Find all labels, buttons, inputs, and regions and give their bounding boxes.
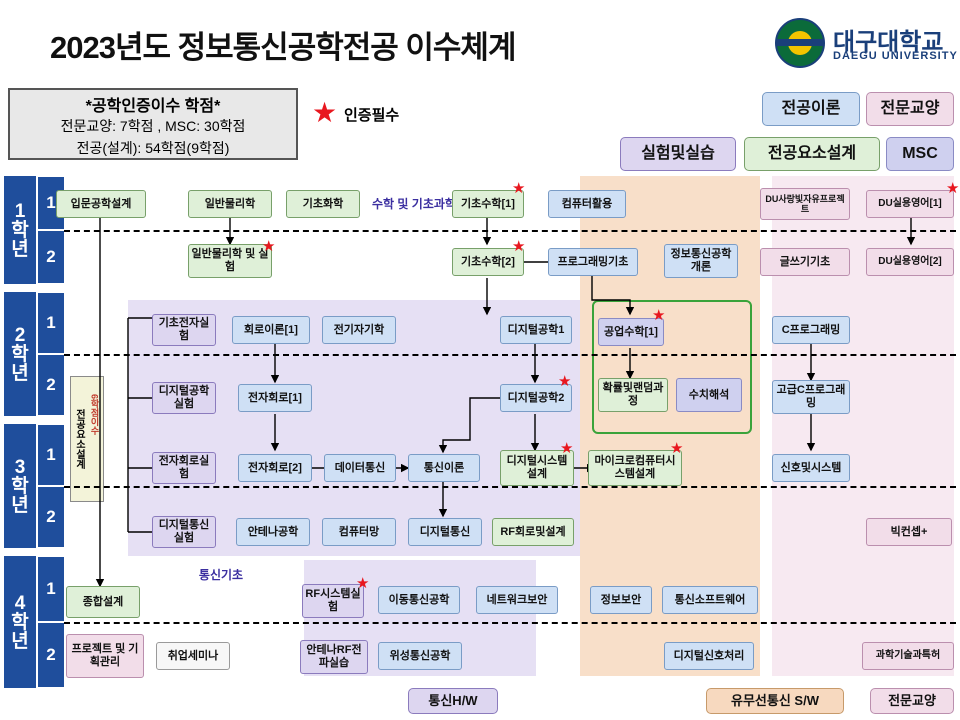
course-c43[interactable]: 정보보안 xyxy=(590,586,652,614)
course-c2[interactable]: 일반물리학 xyxy=(188,190,272,218)
footer-chip-wired-wireless-sw: 유무선통신 S/W xyxy=(706,688,844,714)
course-c36[interactable]: 디지털통신 xyxy=(408,518,482,546)
semester-label-2-2: 2 xyxy=(38,354,64,416)
year-label-2: 2학년 xyxy=(4,292,36,416)
course-c12[interactable]: 글쓰기기초 xyxy=(760,248,850,276)
course-c31[interactable]: 마이크로컴퓨터시스템설계 xyxy=(588,450,682,486)
semester-label-3-2: 2 xyxy=(38,486,64,548)
semester-label-1-2: 2 xyxy=(38,230,64,284)
course-c5[interactable]: 컴퓨터활용 xyxy=(548,190,626,218)
category-chip-major-design: 전공요소설계 xyxy=(744,137,880,171)
divider-4 xyxy=(64,622,956,624)
course-c42[interactable]: 네트워크보안 xyxy=(476,586,558,614)
group-label-major-design-credit: 6학점이수 xyxy=(88,384,102,446)
course-c24[interactable]: 수치해석 xyxy=(676,378,742,412)
course-c35[interactable]: 컴퓨터망 xyxy=(322,518,396,546)
course-c6[interactable]: DU사랑빛자유프로젝트 xyxy=(760,188,850,220)
course-c27[interactable]: 전자회로[2] xyxy=(238,454,312,482)
university-logo-icon xyxy=(775,18,825,68)
category-chip-major-theory: 전공이론 xyxy=(762,92,860,126)
course-c8[interactable]: 일반물리학 및 실험 xyxy=(188,244,272,278)
course-c20[interactable]: 디지털공학실험 xyxy=(152,382,216,414)
course-c21[interactable]: 전자회로[1] xyxy=(238,384,312,412)
star-c40: ★ xyxy=(356,576,369,591)
required-star-label: 인증필수 xyxy=(344,104,399,125)
star-c8: ★ xyxy=(262,239,275,254)
course-c40[interactable]: RF시스템실험 xyxy=(302,584,364,618)
course-c13[interactable]: DU실용영어[2] xyxy=(866,248,954,276)
category-chip-msc: MSC xyxy=(886,137,954,171)
star-c30: ★ xyxy=(560,441,573,456)
star-c4: ★ xyxy=(512,181,525,196)
course-c32[interactable]: 신호및시스템 xyxy=(772,454,850,482)
course-c11[interactable]: 정보통신공학개론 xyxy=(664,244,738,278)
footer-chip-liberal-arts: 전문교양 xyxy=(870,688,954,714)
course-c19[interactable]: C프로그래밍 xyxy=(772,316,850,344)
course-c45[interactable]: 프로젝트 및 기획관리 xyxy=(66,634,144,678)
course-c28[interactable]: 데이터통신 xyxy=(324,454,396,482)
page-title: 2023년도 정보통신공학전공 이수체계 xyxy=(50,22,515,67)
university-name-en: DAEGU UNIVERSITY xyxy=(833,50,958,62)
semester-label-4-1: 1 xyxy=(38,556,64,622)
course-c38[interactable]: 빅컨셉+ xyxy=(866,518,952,546)
star-c31: ★ xyxy=(670,441,683,456)
course-c47[interactable]: 안테나RF전파실습 xyxy=(300,640,368,674)
course-c37[interactable]: RF회로및설계 xyxy=(492,518,574,546)
course-c29[interactable]: 통신이론 xyxy=(408,454,480,482)
group-label-comm-basic: 통신기초 xyxy=(184,564,258,588)
course-c26[interactable]: 전자회로실험 xyxy=(152,452,216,484)
course-c50[interactable]: 과학기술과특허 xyxy=(862,642,954,670)
divider-3 xyxy=(64,486,956,488)
course-c15[interactable]: 회로이론[1] xyxy=(232,316,310,344)
curriculum-diagram: 2023년도 정보통신공학전공 이수체계 대구대학교 DAEGU UNIVERS… xyxy=(0,0,960,720)
star-c7: ★ xyxy=(946,181,959,196)
year-label-3: 3학년 xyxy=(4,424,36,548)
category-chip-lab-practice: 실험및실습 xyxy=(620,137,736,171)
course-c17[interactable]: 디지털공학1 xyxy=(500,316,572,344)
divider-2 xyxy=(64,354,956,356)
footer-chip-comm-hw: 통신H/W xyxy=(408,688,498,714)
year-label-4: 4학년 xyxy=(4,556,36,688)
star-c18: ★ xyxy=(652,308,665,323)
course-c39[interactable]: 종합설계 xyxy=(66,586,140,618)
semester-label-2-1: 1 xyxy=(38,292,64,354)
required-star-icon: ★ xyxy=(312,96,337,129)
course-c48[interactable]: 위성통신공학 xyxy=(378,642,462,670)
course-c1[interactable]: 입문공학설계 xyxy=(56,190,146,218)
star-c22: ★ xyxy=(558,374,571,389)
course-c49[interactable]: 디지털신호처리 xyxy=(664,642,754,670)
year-label-1: 1학년 xyxy=(4,176,36,284)
course-c41[interactable]: 이동통신공학 xyxy=(378,586,460,614)
course-c34[interactable]: 안테나공학 xyxy=(236,518,310,546)
group-label-math-basic: 수학 및 기초과학 xyxy=(372,186,456,220)
credit-legend-title: *공학인증이수 학점* xyxy=(8,92,298,116)
course-c44[interactable]: 통신소프트웨어 xyxy=(662,586,758,614)
category-chip-liberal-arts: 전문교양 xyxy=(866,92,954,126)
group-label-major-design: 전공요소설계 xyxy=(72,380,86,498)
course-c7[interactable]: DU실용영어[1] xyxy=(866,190,954,218)
course-c33[interactable]: 디지털통신실험 xyxy=(152,516,216,548)
course-c3[interactable]: 기초화학 xyxy=(286,190,360,218)
course-c23[interactable]: 확률및랜덤과정 xyxy=(598,378,668,412)
course-c25[interactable]: 고급C프로그래밍 xyxy=(772,380,850,414)
semester-label-3-1: 1 xyxy=(38,424,64,486)
course-c46[interactable]: 취업세미나 xyxy=(156,642,230,670)
divider-1 xyxy=(64,230,956,232)
course-c16[interactable]: 전기자기학 xyxy=(322,316,396,344)
star-c9: ★ xyxy=(512,239,525,254)
course-c14[interactable]: 기초전자실험 xyxy=(152,314,216,346)
course-c10[interactable]: 프로그래밍기초 xyxy=(548,248,638,276)
credit-legend-line2: 전공(설계): 54학점(9학점) xyxy=(8,138,298,158)
semester-label-4-2: 2 xyxy=(38,622,64,688)
credit-legend-line1: 전문교양: 7학점 , MSC: 30학점 xyxy=(8,116,298,136)
